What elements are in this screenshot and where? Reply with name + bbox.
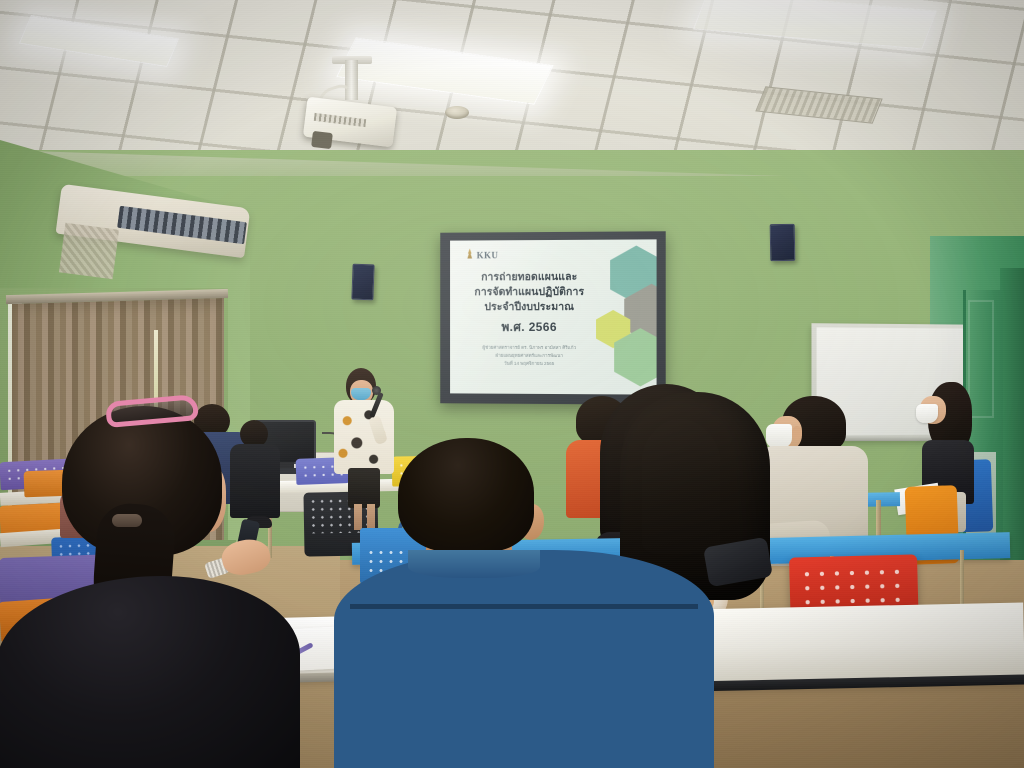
- university-emblem-icon: [466, 248, 474, 261]
- air-conditioner-filter: [59, 223, 119, 280]
- slide-content: KKU การถ่ายทอดแผนและ การจัดทำแผนปฏิบัติก…: [460, 248, 599, 368]
- classroom-photo-scene: KKU การถ่ายทอดแผนและ การจัดทำแผนปฏิบัติก…: [0, 0, 1024, 768]
- shirt-yoke-seam: [350, 604, 698, 609]
- wall-speaker-icon: [770, 224, 796, 261]
- face-mask-icon: [351, 388, 371, 400]
- attendee-foreground-center: [360, 438, 712, 768]
- plaid-shirt: [334, 550, 714, 768]
- attendee-foreground-left: [10, 392, 300, 768]
- shirt-collar: [408, 550, 540, 578]
- slide-logo: KKU: [466, 248, 599, 262]
- attendee-body: [0, 576, 300, 768]
- smoke-detector-icon: [445, 106, 469, 119]
- attendee-hair: [398, 438, 534, 552]
- door-frame: [1000, 268, 1024, 568]
- projector-lens-icon: [311, 131, 333, 149]
- slide-subtitle-line-3: วันที่ 14 พฤศจิกายน 2565: [460, 359, 599, 368]
- slide-title-line-3: ประจำปีงบประมาณ: [460, 300, 599, 315]
- attendee-ear: [792, 426, 802, 440]
- slide-logo-text: KKU: [477, 250, 499, 260]
- slide-subtitle-block: ผู้ช่วยศาสตราจารย์ ดร. นิภาพร อามัสสา ศิ…: [460, 344, 599, 368]
- face-mask-icon: [916, 404, 938, 423]
- slide-title-line-1: การถ่ายทอดแผนและ: [460, 270, 599, 285]
- projection-screen: KKU การถ่ายทอดแผนและ การจัดทำแผนปฏิบัติก…: [450, 239, 657, 394]
- slide-title-line-2: การจัดทำแผนปฏิบัติการ: [460, 285, 599, 300]
- hair-tie: [112, 514, 142, 527]
- chair-perforation: [799, 565, 908, 610]
- slide-year: พ.ศ. 2566: [460, 318, 599, 337]
- wall-speaker-icon: [351, 264, 374, 301]
